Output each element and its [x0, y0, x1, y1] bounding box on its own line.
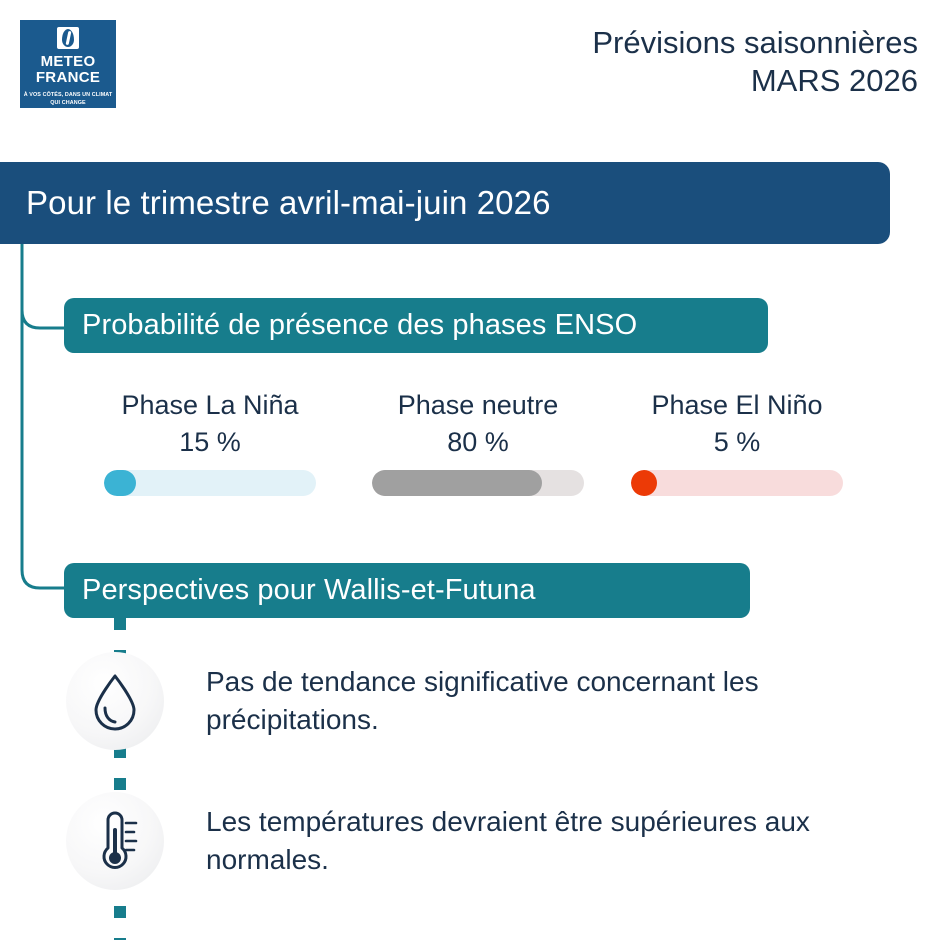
header-titles: Prévisions saisonnières MARS 2026 [592, 24, 918, 100]
enso-phases: Phase La Niña 15 % Phase neutre 80 % Pha… [0, 388, 940, 523]
meteo-france-logo: METEO FRANCE À VOS CÔTÉS, DANS UN CLIMAT… [20, 20, 116, 108]
phase-value: 80 % [372, 424, 584, 460]
logo-line-1: METEO [41, 54, 96, 70]
phase-bar-fill [104, 470, 136, 496]
water-droplet-glyph [88, 671, 142, 731]
page-title: Prévisions saisonnières [592, 24, 918, 62]
phase-value: 15 % [104, 424, 316, 460]
phase-bar-fill [631, 470, 657, 496]
phase-label: Phase La Niña [104, 388, 316, 422]
page-subtitle-date: MARS 2026 [592, 62, 918, 100]
enso-phase-el-nino: Phase El Niño 5 % [631, 388, 843, 496]
outlook-section-title: Perspectives pour Wallis-et-Futuna [64, 574, 536, 607]
enso-section-header: Probabilité de présence des phases ENSO [64, 298, 768, 353]
quarter-banner: Pour le trimestre avril-mai-juin 2026 [0, 162, 890, 244]
logo-line-2: FRANCE [36, 70, 100, 86]
enso-section-title: Probabilité de présence des phases ENSO [64, 309, 637, 342]
outlook-item-text: Les températures devraient être supérieu… [206, 803, 906, 879]
outlook-item-text: Pas de tendance significative concernant… [206, 663, 906, 739]
phase-bar-track [104, 470, 316, 496]
phase-label: Phase El Niño [631, 388, 843, 422]
phase-bar-track [631, 470, 843, 496]
enso-phase-la-nina: Phase La Niña 15 % [104, 388, 316, 496]
thermometer-glyph [88, 810, 142, 872]
thermometer-icon [66, 792, 164, 890]
outlook-item-temperature: Les températures devraient être supérieu… [66, 785, 926, 897]
water-droplet-icon [66, 652, 164, 750]
enso-phase-neutre: Phase neutre 80 % [372, 388, 584, 496]
quarter-banner-label: Pour le trimestre avril-mai-juin 2026 [0, 184, 551, 222]
logo-tagline: À VOS CÔTÉS, DANS UN CLIMAT QUI CHANGE [20, 92, 116, 107]
phase-label: Phase neutre [372, 388, 584, 422]
page-header: METEO FRANCE À VOS CÔTÉS, DANS UN CLIMAT… [0, 0, 940, 128]
outlook-section-header: Perspectives pour Wallis-et-Futuna [64, 563, 750, 618]
outlook-item-precipitation: Pas de tendance significative concernant… [66, 645, 926, 757]
phase-bar-track [372, 470, 584, 496]
phase-value: 5 % [631, 424, 843, 460]
meteo-france-logo-icon [57, 27, 79, 49]
phase-bar-fill [372, 470, 542, 496]
